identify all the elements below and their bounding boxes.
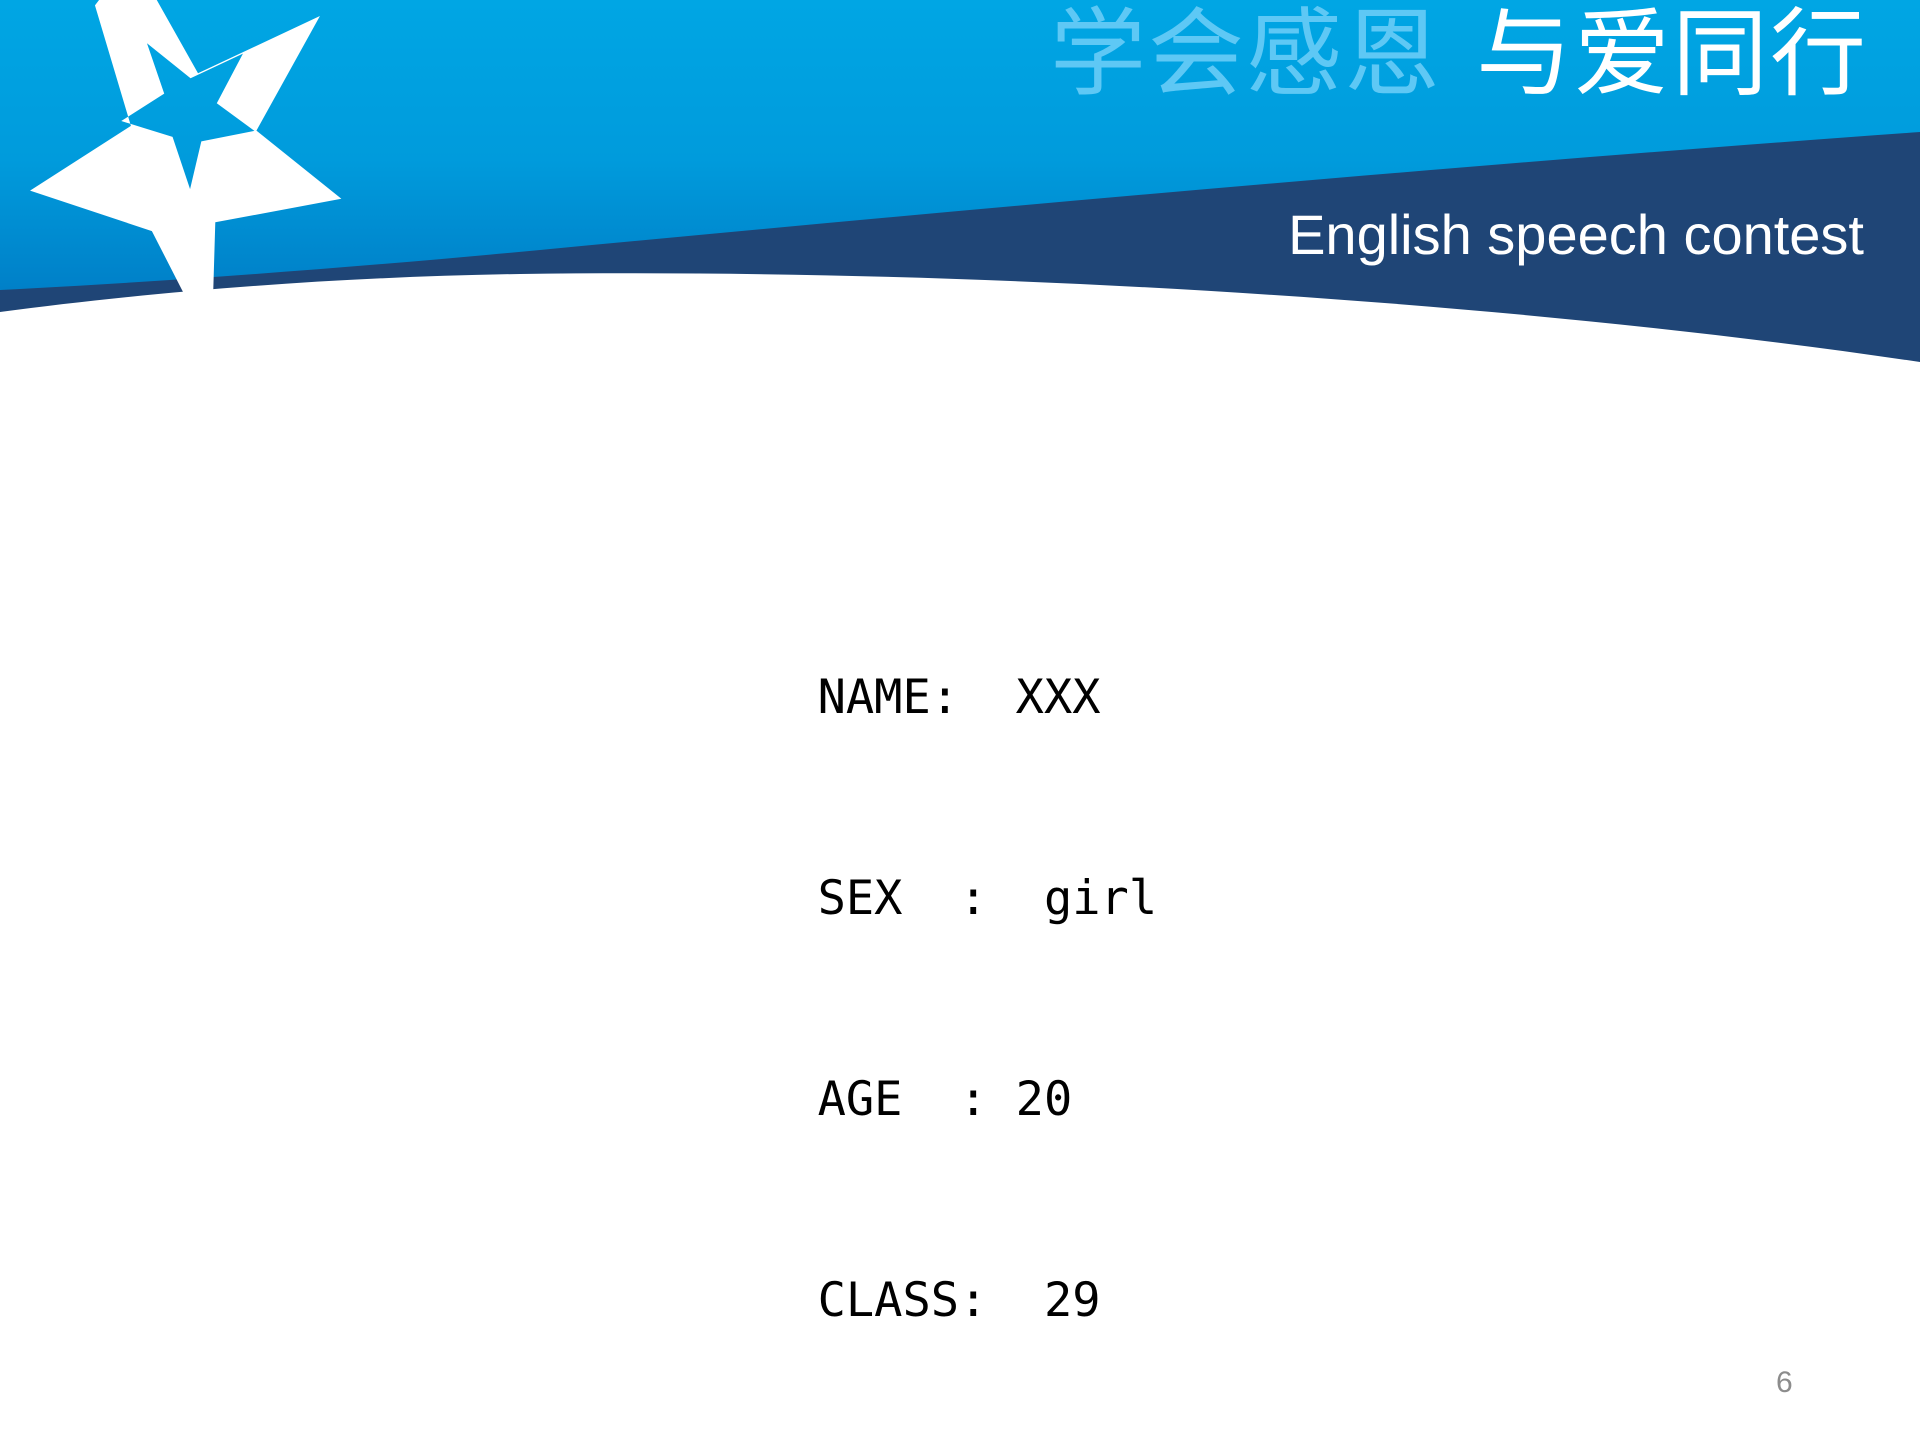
info-line-name: NAME: XXX: [818, 664, 1469, 731]
presentation-slide: 学会感恩与爱同行 English speech contest NAME: XX…: [0, 0, 1920, 1440]
info-line-age: AGE : 20: [818, 1066, 1469, 1133]
personal-info-block: NAME: XXX SEX : girl AGE : 20 CLASS: 29 …: [818, 530, 1469, 1440]
page-number: 6: [1776, 1366, 1793, 1400]
info-line-sex: SEX : girl: [818, 865, 1469, 932]
header-banner: [0, 0, 1920, 380]
info-line-class: CLASS: 29: [818, 1267, 1469, 1334]
